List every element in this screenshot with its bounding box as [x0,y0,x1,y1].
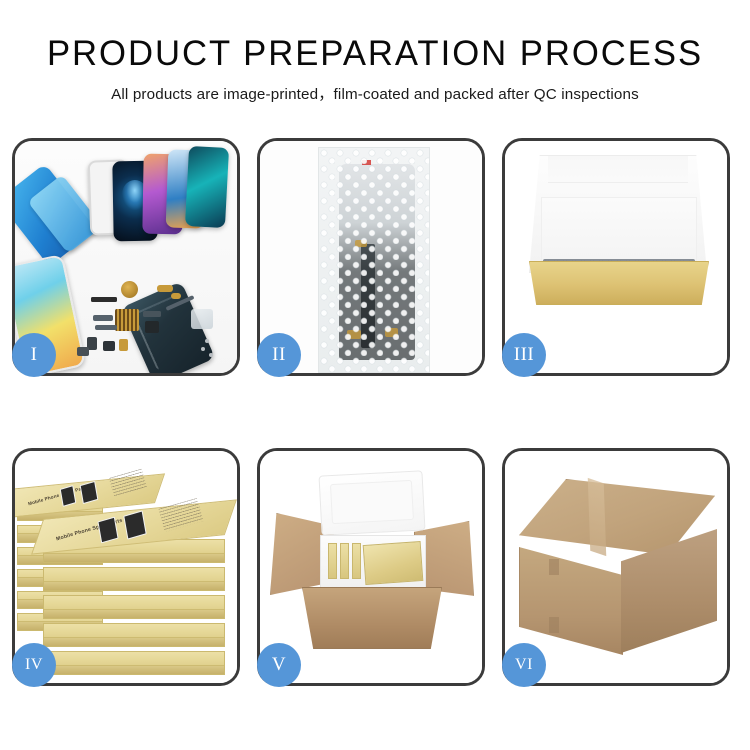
speaker-part [91,297,117,302]
button-flex-part [157,285,173,292]
page-title: PRODUCT PREPARATION PROCESS [4,36,747,73]
teal-swirl-phone [185,146,229,228]
bracket-part [77,347,89,356]
bubble-texture [319,148,429,372]
screw-3 [205,339,209,343]
box-thumbnail-1a [60,485,77,507]
bubble-wrap-bag [318,147,430,373]
process-panel-5: V [257,448,485,686]
white-inner-panel [541,197,697,261]
header: PRODUCT PREPARATION PROCESS All products… [0,0,750,104]
panel-3-badge: III [502,333,546,377]
screw-1 [201,347,205,351]
sim-tray-part [119,339,128,351]
stack-box-front-5 [43,651,225,675]
gold-box-bar-1 [328,543,337,579]
carton-seam-lower [549,617,559,633]
process-panel-6: VI [502,448,730,686]
page-subtitle: All products are image-printed，film-coat… [0,82,750,104]
tweezers-hand [191,309,213,329]
gold-box-bar-3 [352,543,361,579]
stack-box-front-2 [43,567,225,591]
panel-2-badge: II [257,333,301,377]
foam-box-lid [319,470,426,535]
packing-tape-strip [588,478,607,556]
screw-2 [209,353,213,357]
process-panel-1: I [12,138,240,376]
ribbon-connector [143,311,161,317]
process-panel-2: II [257,138,485,376]
speaker-box-part [103,341,115,351]
flex-cable-2 [95,325,117,330]
flex-cable-1 [93,315,113,321]
gold-box-bar-2 [340,543,349,579]
carton-seam-upper [549,559,559,575]
gold-box-slab-group [363,541,424,585]
process-panel-4: Mobile Phone Spare Parts Mobile Phone Sp… [12,448,240,686]
camera-module-part [145,321,159,333]
carton-body [302,587,442,649]
panel-4-badge: IV [12,643,56,687]
panel-5-badge: V [257,643,301,687]
process-panel-grid: I II [12,138,738,686]
gold-box-tray [529,261,709,305]
product-preparation-infographic: PRODUCT PREPARATION PROCESS All products… [0,0,750,750]
panel-1-badge: I [12,333,56,377]
stack-box-front-4 [43,623,225,647]
panel-6-badge: VI [502,643,546,687]
carton-front-face [519,547,623,655]
small-gold-part [171,293,181,299]
stack-box-front-3 [43,595,225,619]
chip-array-part [115,309,139,331]
copper-coil-part [121,281,138,298]
process-panel-3: III [502,138,730,376]
